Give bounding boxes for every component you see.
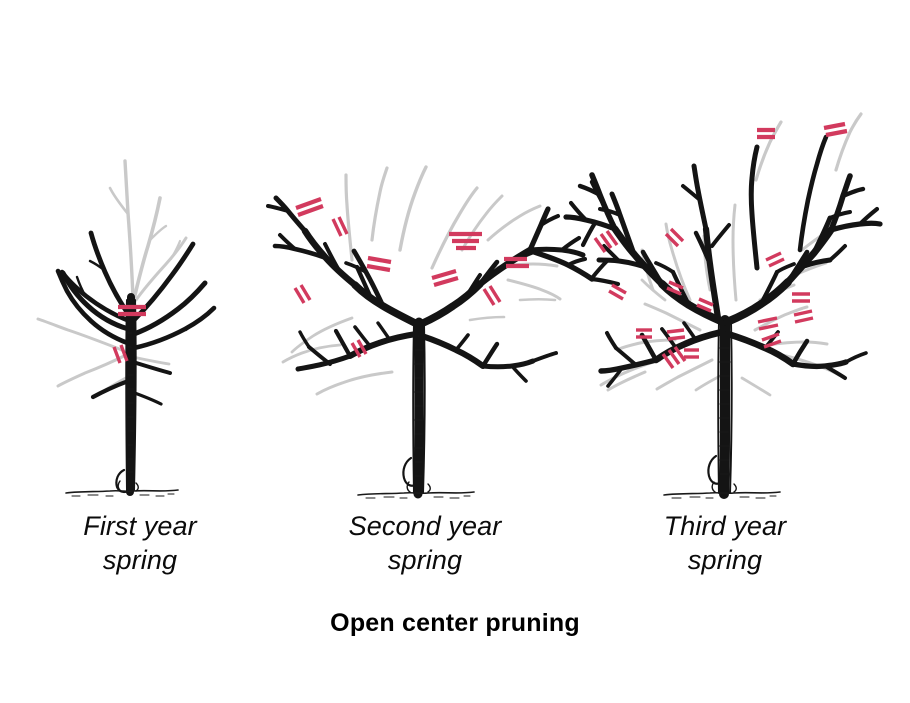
illustration-stage: .br{fill:none;stroke:#141414;stroke-line… bbox=[0, 0, 910, 703]
pruning-figure: .br{fill:none;stroke:#141414;stroke-line… bbox=[0, 0, 910, 703]
tree-illustrations: .br{fill:none;stroke:#141414;stroke-line… bbox=[0, 0, 910, 703]
figure-caption: Open center pruning bbox=[155, 609, 755, 638]
